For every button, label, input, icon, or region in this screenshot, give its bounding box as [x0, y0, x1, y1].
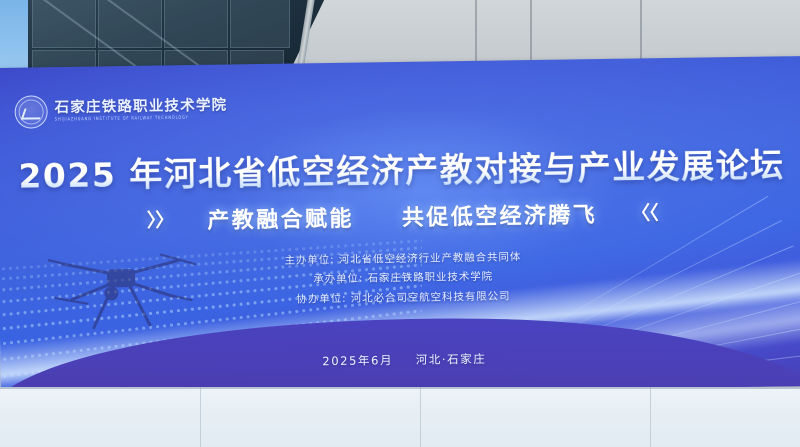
university-name-cn: 石家庄铁路职业技术学院	[54, 99, 227, 116]
organizer-value: 河北省低空经济行业产教融合共同体	[339, 251, 522, 266]
university-seal-icon	[14, 95, 47, 128]
glass-pane	[230, 0, 290, 48]
chevron-left-icon: 〉〉	[147, 209, 174, 231]
banner-subtitle: 〉〉 产教融合赋能 共促低空经济腾飞 〈〈	[2, 194, 800, 238]
wall-top-edge	[0, 387, 800, 389]
wall-seam	[650, 387, 651, 447]
glass-pane	[98, 0, 162, 48]
banner-main-title: 2025 年河北省低空经济产教对接与产业发展论坛	[1, 138, 800, 198]
university-name-en: SHIJIAZHUANG INSTITUTE OF RAILWAY TECHNO…	[55, 116, 228, 123]
wall-seam	[420, 387, 421, 447]
screenshot-scene: 石家庄铁路职业技术学院 SHIJIAZHUANG INSTITUTE OF RA…	[0, 0, 800, 447]
university-logo: 石家庄铁路职业技术学院 SHIJIAZHUANG INSTITUTE OF RA…	[14, 93, 227, 129]
foreground-wall	[0, 387, 800, 447]
event-date: 2025年6月	[322, 353, 393, 368]
glass-pane	[32, 0, 96, 48]
organizer-list: 主办单位: 河北省低空经济行业产教融合共同体 承办单位: 石家庄铁路职业技术学院…	[3, 244, 800, 314]
conference-banner: 石家庄铁路职业技术学院 SHIJIAZHUANG INSTITUTE OF RA…	[0, 56, 800, 398]
organizer-value: 石家庄铁路职业技术学院	[368, 271, 494, 285]
subtitle-phrase-b: 共促低空经济腾飞	[402, 203, 598, 231]
date-location-line: 2025年6月 河北·石家庄	[4, 346, 800, 374]
organizer-value: 河北必合司空航空科技有限公司	[351, 290, 511, 304]
organizer-label: 承办单位:	[313, 273, 363, 286]
event-location: 河北·石家庄	[416, 352, 487, 367]
glass-pane	[164, 0, 228, 48]
chevron-right-icon: 〈〈	[631, 202, 658, 224]
subtitle-phrase-a: 产教融合赋能	[207, 207, 354, 234]
organizer-label: 主办单位:	[284, 254, 334, 267]
organizer-label: 协办单位:	[296, 293, 346, 306]
wall-seam	[200, 387, 201, 447]
